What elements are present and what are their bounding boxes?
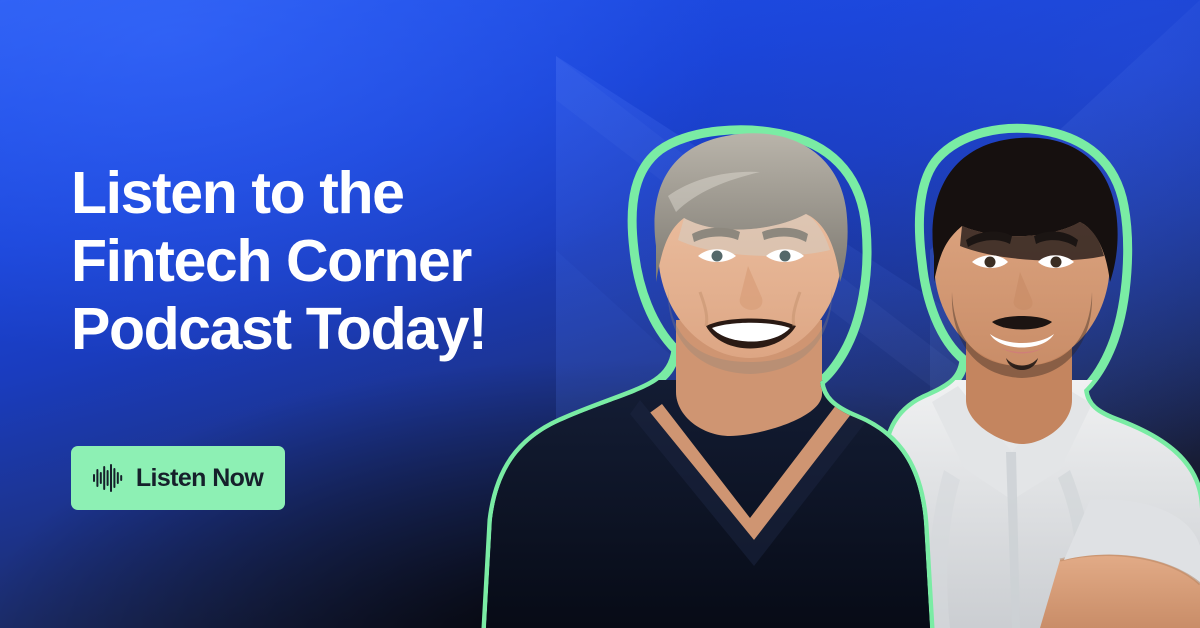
podcast-promo-banner: Listen to the Fintech Corner Podcast Tod… <box>0 0 1200 628</box>
listen-now-label: Listen Now <box>136 466 263 491</box>
audio-waveform-icon <box>93 464 123 492</box>
listen-now-button[interactable]: Listen Now <box>71 446 285 510</box>
podcast-host-left <box>470 130 950 628</box>
podcast-hosts-artwork <box>0 0 1200 628</box>
